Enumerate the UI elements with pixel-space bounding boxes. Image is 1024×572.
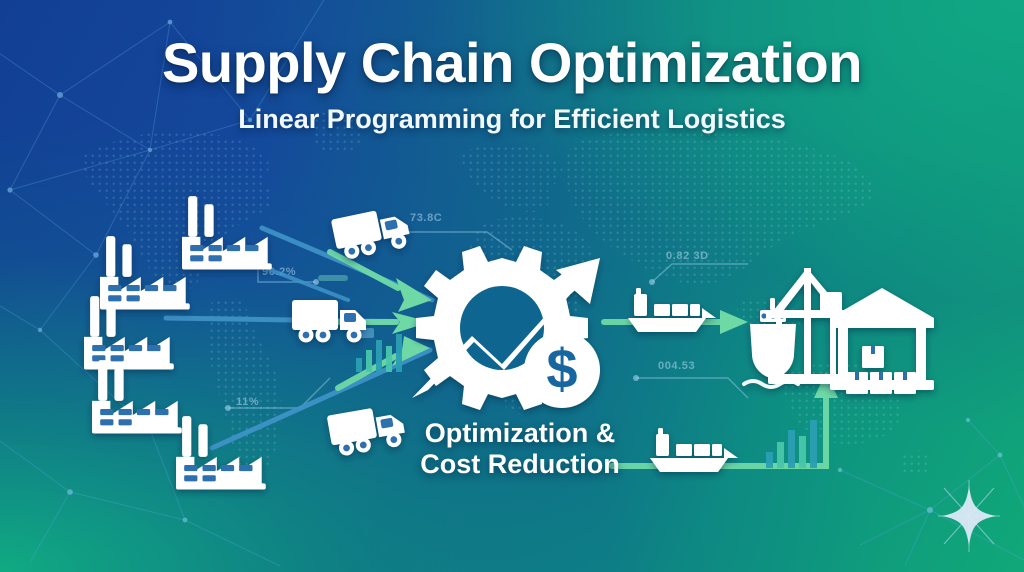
center-caption: Optimization & Cost Reduction [396,418,644,481]
infographic-canvas: 73.8C 96.2% 11% 0.82 3D 004.53 [0,0,1024,572]
header: Supply Chain Optimization Linear Program… [0,34,1024,135]
page-subtitle: Linear Programming for Efficient Logisti… [0,104,1024,135]
center-caption-line-1: Optimization & [396,418,644,449]
page-title: Supply Chain Optimization [0,34,1024,92]
center-caption-line-2: Cost Reduction [396,449,644,480]
svg-text:$: $ [546,337,577,400]
